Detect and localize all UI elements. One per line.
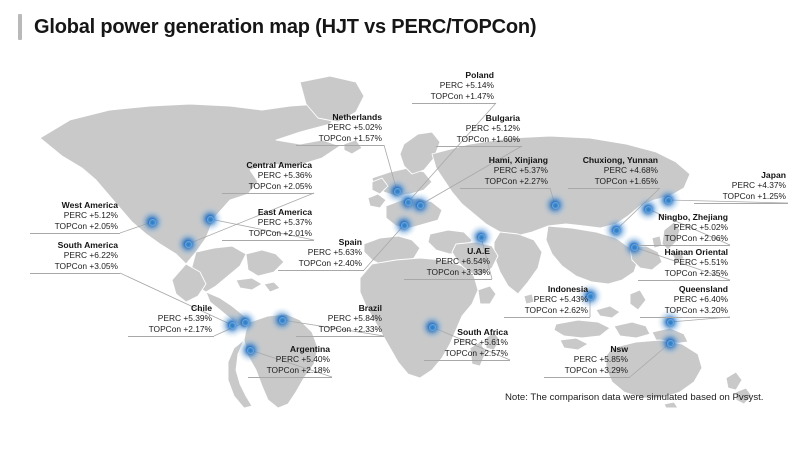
callout-title: Central America <box>192 160 312 170</box>
callout-title: East America <box>192 207 312 217</box>
callout-rule <box>436 146 522 147</box>
callout-perc-value: PERC +5.63% <box>242 247 362 257</box>
callout-rule <box>30 273 120 274</box>
callout-perc-value: PERC +6.40% <box>608 294 728 304</box>
map-marker-spain[interactable] <box>391 212 417 238</box>
callout-brazil[interactable]: BrazilPERC +5.84%TOPCon +2.33% <box>262 303 382 334</box>
marker-core-icon <box>149 219 156 226</box>
callout-perc-value: PERC +5.39% <box>92 313 212 323</box>
callout-perc-value: PERC +5.02% <box>608 222 728 232</box>
callout-rule <box>694 203 788 204</box>
callout-rule <box>568 188 660 189</box>
callout-title: Brazil <box>262 303 382 313</box>
callout-title: West America <box>0 200 118 210</box>
callout-perc-value: PERC +6.22% <box>0 250 118 260</box>
callout-netherlands[interactable]: NetherlandsPERC +5.02%TOPCon +1.57% <box>262 112 382 143</box>
callout-uae[interactable]: U.A.EPERC +6.54%TOPCon +3.33% <box>370 246 490 277</box>
marker-core-icon <box>185 241 192 248</box>
callout-topcon-value: TOPCon +2.18% <box>210 365 330 375</box>
callout-rule <box>504 317 590 318</box>
callout-title: South America <box>0 240 118 250</box>
callout-rule <box>544 377 630 378</box>
callout-chuxiong-yunnan[interactable]: Chuxiong, YunnanPERC +4.68%TOPCon +1.65% <box>538 155 658 186</box>
page-header: Global power generation map (HJT vs PERC… <box>18 14 536 40</box>
marker-core-icon <box>401 222 408 229</box>
callout-topcon-value: TOPCon +1.60% <box>400 134 520 144</box>
callout-rule <box>412 103 496 104</box>
callout-title: Indonesia <box>468 284 588 294</box>
callout-topcon-value: TOPCon +2.06% <box>608 233 728 243</box>
callout-title: Queensland <box>608 284 728 294</box>
callout-title: Bulgaria <box>400 113 520 123</box>
callout-rule <box>460 188 550 189</box>
marker-core-icon <box>667 319 674 326</box>
callout-hami-xinjiang[interactable]: Hami, XinjiangPERC +5.37%TOPCon +2.27% <box>428 155 548 186</box>
callout-title: U.A.E <box>370 246 490 256</box>
callout-rule <box>296 336 384 337</box>
callout-topcon-value: TOPCon +2.40% <box>242 258 362 268</box>
callout-spain[interactable]: SpainPERC +5.63%TOPCon +2.40% <box>242 237 362 268</box>
callout-perc-value: PERC +5.61% <box>388 337 508 347</box>
map-marker-nsw[interactable] <box>657 330 683 356</box>
callout-topcon-value: TOPCon +2.17% <box>92 324 212 334</box>
callout-rule <box>248 377 332 378</box>
callout-perc-value: PERC +5.43% <box>468 294 588 304</box>
callout-hainan-oriental[interactable]: Hainan OrientalPERC +5.51%TOPCon +2.35% <box>608 247 728 278</box>
callout-topcon-value: TOPCon +2.57% <box>388 348 508 358</box>
footnote: Note: The comparison data were simulated… <box>505 392 763 403</box>
marker-core-icon <box>667 340 674 347</box>
callout-perc-value: PERC +5.84% <box>262 313 382 323</box>
callout-chile[interactable]: ChilePERC +5.39%TOPCon +2.17% <box>92 303 212 334</box>
callout-rule <box>424 360 510 361</box>
callout-rule <box>638 280 730 281</box>
callout-title: Argentina <box>210 344 330 354</box>
callout-title: Japan <box>666 170 786 180</box>
callout-ningbo-zhejiang[interactable]: Ningbo, ZhejiangPERC +5.02%TOPCon +2.06% <box>608 212 728 243</box>
callout-title: Netherlands <box>262 112 382 122</box>
callout-bulgaria[interactable]: BulgariaPERC +5.12%TOPCon +1.60% <box>400 113 520 144</box>
callout-topcon-value: TOPCon +1.57% <box>262 133 382 143</box>
callout-japan[interactable]: JapanPERC +4.37%TOPCon +1.25% <box>666 170 786 201</box>
callout-topcon-value: TOPCon +2.62% <box>468 305 588 315</box>
callout-perc-value: PERC +5.14% <box>374 80 494 90</box>
callout-rule <box>278 270 364 271</box>
callout-perc-value: PERC +5.36% <box>192 170 312 180</box>
callout-west-america[interactable]: West AmericaPERC +5.12%TOPCon +2.05% <box>0 200 118 231</box>
map-marker-chile[interactable] <box>232 309 258 335</box>
slide-canvas: Global power generation map (HJT vs PERC… <box>0 0 800 450</box>
callout-perc-value: PERC +4.37% <box>666 180 786 190</box>
callout-title: Spain <box>242 237 362 247</box>
callout-perc-value: PERC +6.54% <box>370 256 490 266</box>
marker-core-icon <box>552 202 559 209</box>
map-marker-west-america[interactable] <box>139 209 165 235</box>
callout-rule <box>128 336 214 337</box>
callout-title: Poland <box>374 70 494 80</box>
callout-rule <box>222 193 314 194</box>
callout-perc-value: PERC +5.85% <box>508 354 628 364</box>
title-accent-bar <box>18 14 22 40</box>
callout-nsw[interactable]: NswPERC +5.85%TOPCon +3.29% <box>508 344 628 375</box>
callout-perc-value: PERC +5.51% <box>608 257 728 267</box>
callout-perc-value: PERC +5.37% <box>428 165 548 175</box>
marker-core-icon <box>478 234 485 241</box>
callout-topcon-value: TOPCon +1.65% <box>538 176 658 186</box>
callout-title: South Africa <box>388 327 508 337</box>
callout-title: Nsw <box>508 344 628 354</box>
callout-topcon-value: TOPCon +2.27% <box>428 176 548 186</box>
callout-topcon-value: TOPCon +3.05% <box>0 261 118 271</box>
callout-queensland[interactable]: QueenslandPERC +6.40%TOPCon +3.20% <box>608 284 728 315</box>
map-marker-hami-xinjiang[interactable] <box>542 192 568 218</box>
page-title: Global power generation map (HJT vs PERC… <box>34 16 536 39</box>
callout-argentina[interactable]: ArgentinaPERC +5.40%TOPCon +2.18% <box>210 344 330 375</box>
callout-perc-value: PERC +5.02% <box>262 122 382 132</box>
callout-east-america[interactable]: East AmericaPERC +5.37%TOPCon +2.01% <box>192 207 312 238</box>
callout-poland[interactable]: PolandPERC +5.14%TOPCon +1.47% <box>374 70 494 101</box>
callout-south-america[interactable]: South AmericaPERC +6.22%TOPCon +3.05% <box>0 240 118 271</box>
callout-title: Chile <box>92 303 212 313</box>
callout-title: Hainan Oriental <box>608 247 728 257</box>
marker-core-icon <box>242 319 249 326</box>
callout-topcon-value: TOPCon +1.25% <box>666 191 786 201</box>
callout-rule <box>638 245 730 246</box>
callout-perc-value: PERC +5.40% <box>210 354 330 364</box>
callout-south-africa[interactable]: South AfricaPERC +5.61%TOPCon +2.57% <box>388 327 508 358</box>
callout-topcon-value: TOPCon +2.35% <box>608 268 728 278</box>
callout-central-america[interactable]: Central AmericaPERC +5.36%TOPCon +2.05% <box>192 160 312 191</box>
callout-indonesia[interactable]: IndonesiaPERC +5.43%TOPCon +2.62% <box>468 284 588 315</box>
callout-topcon-value: TOPCon +2.33% <box>262 324 382 334</box>
callout-rule <box>404 279 492 280</box>
callout-topcon-value: TOPCon +2.05% <box>0 221 118 231</box>
callout-perc-value: PERC +5.12% <box>0 210 118 220</box>
callout-topcon-value: TOPCon +3.20% <box>608 305 728 315</box>
marker-core-icon <box>417 202 424 209</box>
callout-rule <box>30 233 120 234</box>
callout-perc-value: PERC +5.12% <box>400 123 520 133</box>
callout-topcon-value: TOPCon +1.47% <box>374 91 494 101</box>
callout-rule <box>640 317 730 318</box>
callout-topcon-value: TOPCon +3.29% <box>508 365 628 375</box>
callout-perc-value: PERC +5.37% <box>192 217 312 227</box>
callout-title: Hami, Xinjiang <box>428 155 548 165</box>
callout-title: Ningbo, Zhejiang <box>608 212 728 222</box>
callout-title: Chuxiong, Yunnan <box>538 155 658 165</box>
callout-topcon-value: TOPCon +3.33% <box>370 267 490 277</box>
callout-rule <box>296 145 384 146</box>
callout-perc-value: PERC +4.68% <box>538 165 658 175</box>
callout-topcon-value: TOPCon +2.05% <box>192 181 312 191</box>
